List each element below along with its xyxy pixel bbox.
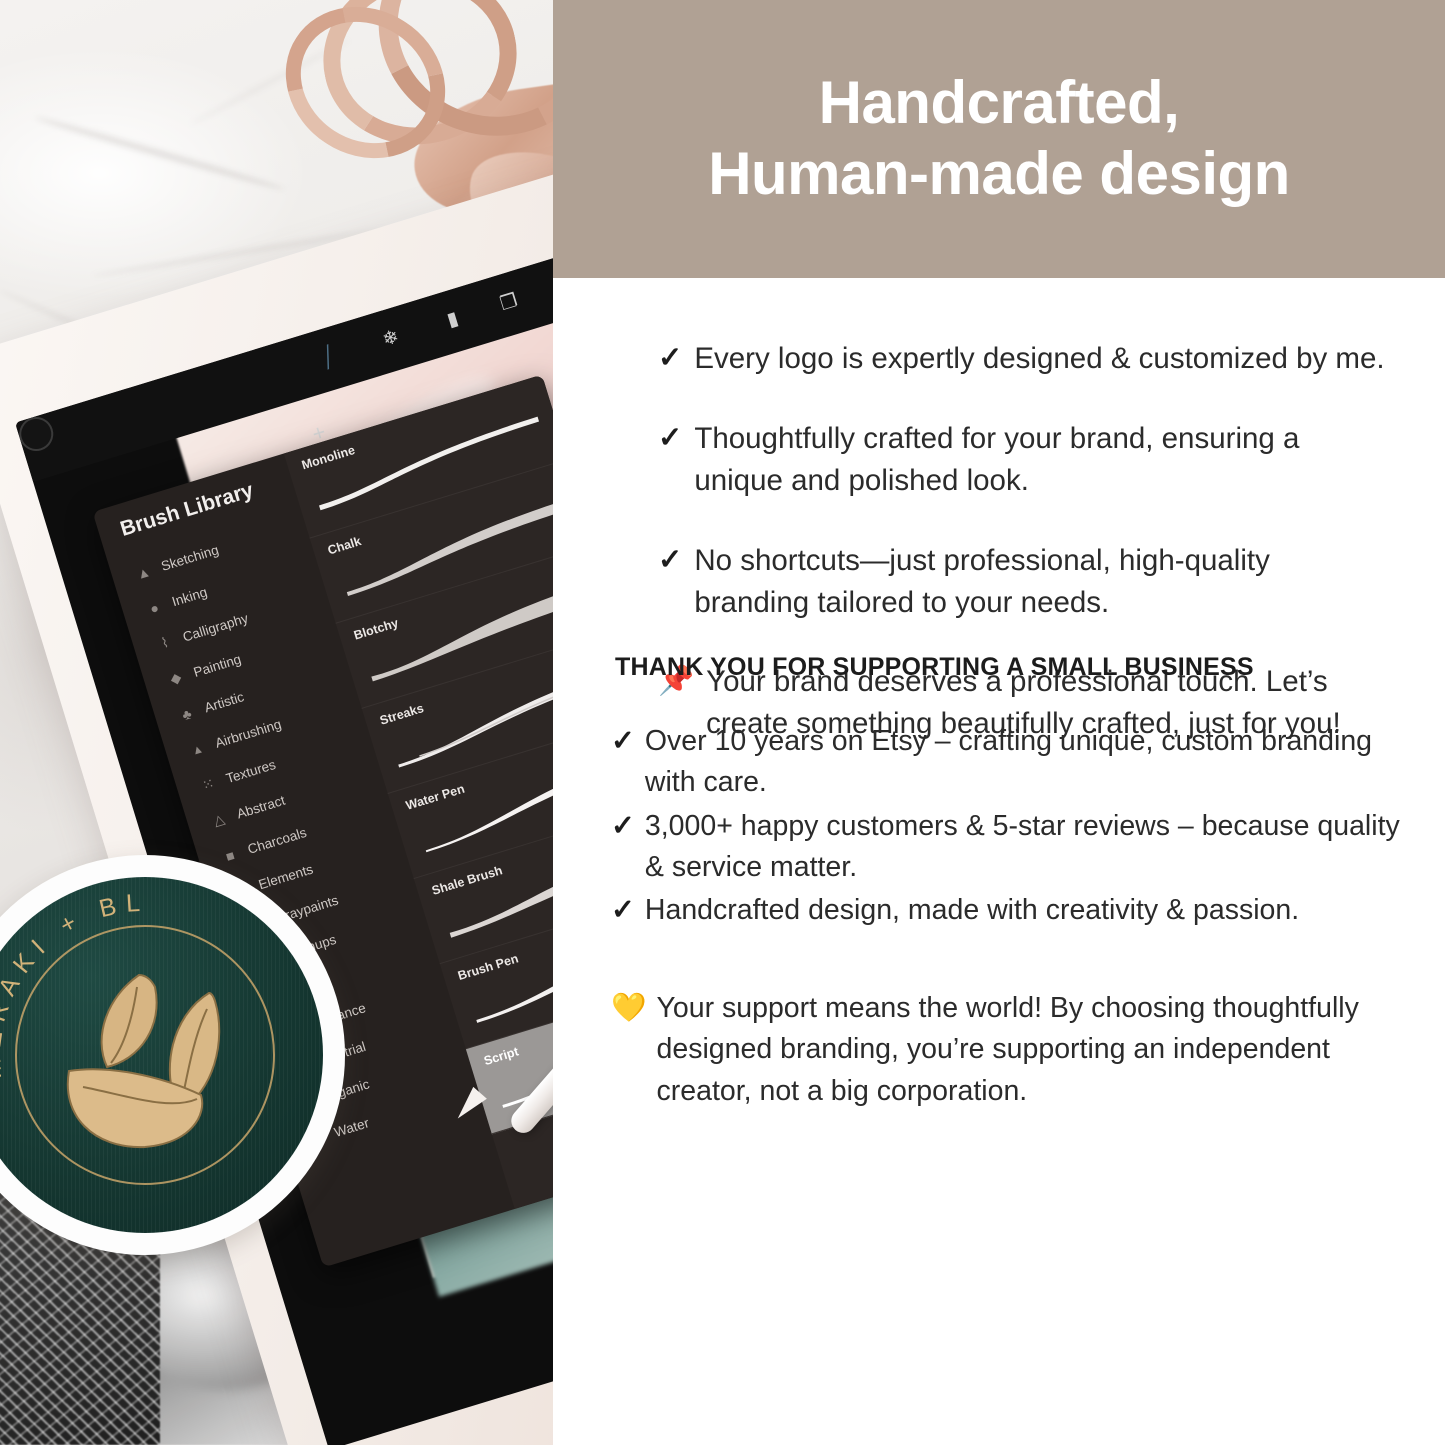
eraser-icon[interactable]: ▮	[445, 309, 461, 330]
benefit-item: ✓ Thoughtfully crafted for your brand, e…	[658, 418, 1388, 502]
gold-leaves-icon	[41, 953, 251, 1163]
benefit-item: ✓ No shortcuts—just professional, high-q…	[658, 540, 1388, 624]
textures-icon: ⁙	[197, 774, 219, 796]
credential-item: ✓ Over 10 years on Etsy – crafting uniqu…	[611, 721, 1411, 804]
brush-name: Chalk	[326, 534, 363, 557]
check-icon: ✓	[611, 721, 635, 762]
product-photo-panel: ╱ ❄ ▮ ❐ + Brush Library ▲ Sketching	[0, 0, 553, 1445]
benefit-text: Every logo is expertly designed & custom…	[694, 338, 1388, 380]
closing-text: Your support means the world! By choosin…	[657, 988, 1422, 1112]
benefit-text: No shortcuts—just professional, high-qua…	[694, 540, 1388, 624]
thanks-heading: THANK YOU FOR SUPPORTING A SMALL BUSINES…	[615, 653, 1415, 682]
credential-item: ✓ Handcrafted design, made with creativi…	[611, 890, 1411, 931]
closing-message: 💛 Your support means the world! By choos…	[611, 988, 1421, 1112]
brush-set-label: Artistic	[203, 689, 246, 715]
brush-set-label: Sketching	[159, 542, 220, 574]
calligraphy-icon: ⌇	[154, 632, 176, 654]
check-icon: ✓	[658, 540, 682, 581]
credential-item: ✓ 3,000+ happy customers & 5-star review…	[611, 806, 1411, 889]
header-band: Handcrafted, Human-made design	[553, 0, 1445, 278]
abstract-icon: △	[208, 809, 230, 831]
page-title-line-1: Handcrafted,	[819, 69, 1180, 136]
check-icon: ✓	[658, 338, 682, 379]
smudge-icon[interactable]: ❄	[381, 327, 402, 350]
layers-icon[interactable]: ❐	[498, 291, 520, 314]
inking-icon: ●	[143, 597, 165, 618]
credentials-list: ✓ Over 10 years on Etsy – crafting uniqu…	[611, 721, 1411, 934]
airbrushing-icon: ▴	[186, 738, 208, 760]
page-title: Handcrafted, Human-made design	[708, 68, 1290, 210]
benefit-text: Thoughtfully crafted for your brand, ens…	[694, 418, 1388, 502]
credential-text: 3,000+ happy customers & 5-star reviews …	[645, 806, 1411, 889]
brush-icon[interactable]: ╱	[318, 347, 337, 369]
yellow-heart-icon: 💛	[611, 988, 647, 1029]
brush-name: Monoline	[300, 443, 357, 472]
right-content-panel: Handcrafted, Human-made design ✓ Every l…	[553, 0, 1445, 1445]
brush-set-label: Painting	[192, 651, 243, 680]
brand-logo-sticker: MERAKI + BL	[0, 855, 345, 1255]
benefits-list: ✓ Every logo is expertly designed & cust…	[658, 338, 1388, 745]
check-icon: ✓	[611, 890, 635, 931]
brush-set-label: Inking	[170, 584, 209, 609]
page-title-line-2: Human-made design	[708, 139, 1290, 210]
credential-text: Over 10 years on Etsy – crafting unique,…	[645, 721, 1411, 804]
brush-name: Script	[482, 1044, 520, 1068]
brush-set-label: Abstract	[235, 793, 287, 822]
credential-text: Handcrafted design, made with creativity…	[645, 890, 1299, 931]
product-listing-graphic: ╱ ❄ ▮ ❐ + Brush Library ▲ Sketching	[0, 0, 1445, 1445]
painting-icon: ◆	[165, 668, 187, 690]
check-icon: ✓	[658, 418, 682, 459]
body-content: ✓ Every logo is expertly designed & cust…	[553, 278, 1445, 1445]
check-icon: ✓	[611, 806, 635, 847]
brush-name: Streaks	[378, 701, 425, 728]
benefit-item: ✓ Every logo is expertly designed & cust…	[658, 338, 1388, 380]
artistic-icon: ♣	[176, 703, 198, 724]
brush-set-label: Textures	[224, 757, 277, 786]
brush-name: Blotchy	[352, 616, 400, 643]
brush-set-label: Charcoals	[246, 825, 309, 857]
sketching-icon: ▲	[132, 562, 154, 583]
